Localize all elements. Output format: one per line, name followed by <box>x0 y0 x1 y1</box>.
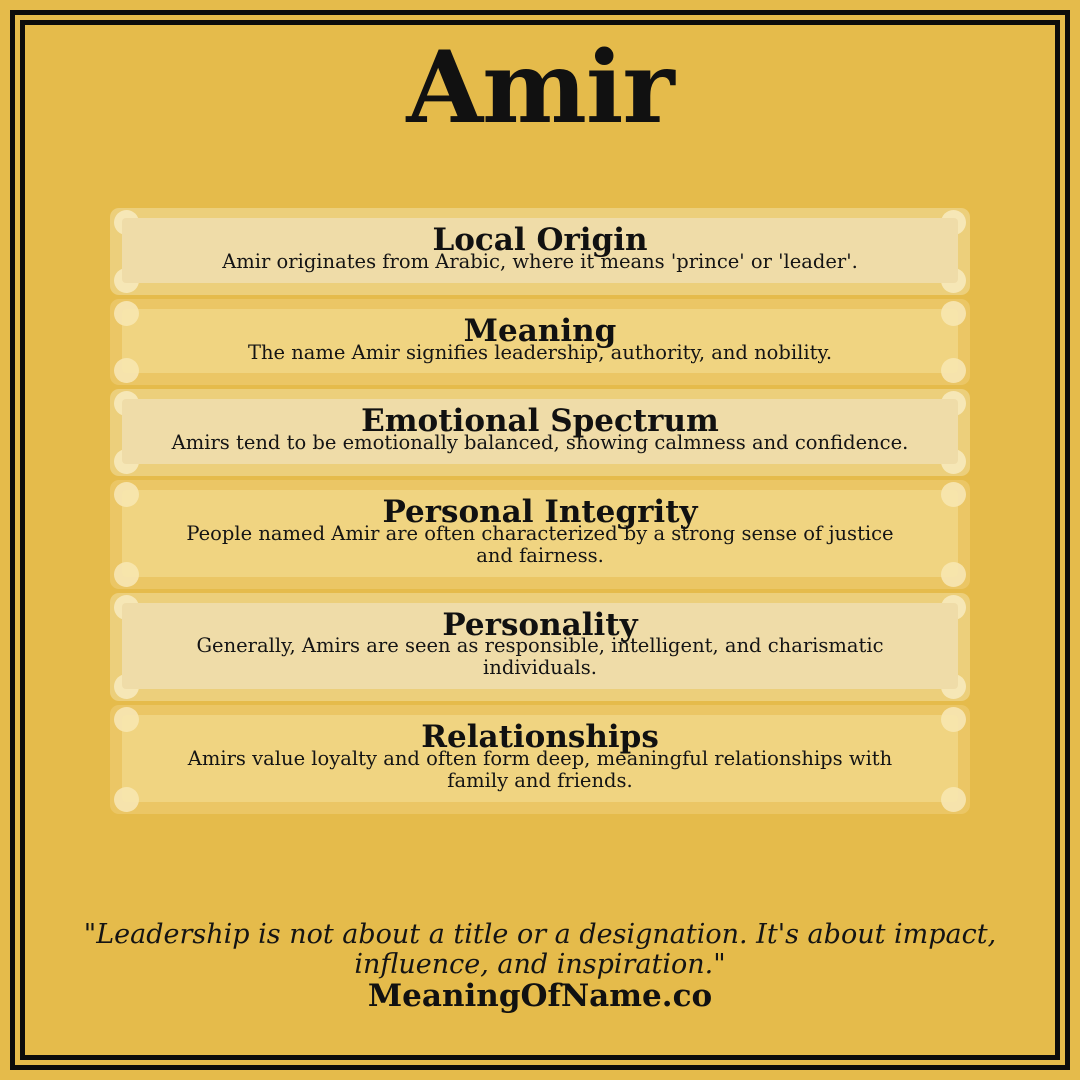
attribute-card: Personal Integrity People named Amir are… <box>110 480 970 589</box>
attribute-card-panel: Local Origin Amir originates from Arabic… <box>122 218 958 283</box>
attribute-card: Meaning The name Amir signifies leadersh… <box>110 299 970 386</box>
name-meaning-poster: Amir Local Origin Amir originates from A… <box>0 0 1080 1080</box>
poster-footer: "Leadership is not about a title or a de… <box>25 920 1055 1014</box>
attribute-card-panel: Personality Generally, Amirs are seen as… <box>122 603 958 690</box>
attribute-card-description: Generally, Amirs are seen as responsible… <box>166 635 914 679</box>
page-title: Amir <box>25 39 1055 138</box>
attribute-card-panel: Emotional Spectrum Amirs tend to be emot… <box>122 399 958 464</box>
attribute-card-description: Amir originates from Arabic, where it me… <box>166 251 914 273</box>
attribute-card-panel: Personal Integrity People named Amir are… <box>122 490 958 577</box>
attribute-card-panel: Meaning The name Amir signifies leadersh… <box>122 309 958 374</box>
attribute-card: Local Origin Amir originates from Arabic… <box>110 208 970 295</box>
attribute-card: Personality Generally, Amirs are seen as… <box>110 593 970 702</box>
attribute-card-list: Local Origin Amir originates from Arabic… <box>110 208 970 818</box>
footer-brand: MeaningOfName.co <box>25 978 1055 1014</box>
attribute-card: Relationships Amirs value loyalty and of… <box>110 705 970 814</box>
attribute-card-panel: Relationships Amirs value loyalty and of… <box>122 715 958 802</box>
attribute-card: Emotional Spectrum Amirs tend to be emot… <box>110 389 970 476</box>
attribute-card-description: Amirs value loyalty and often form deep,… <box>166 748 914 792</box>
poster-content: Amir Local Origin Amir originates from A… <box>25 25 1055 1055</box>
attribute-card-description: People named Amir are often characterize… <box>166 523 914 567</box>
footer-quote: "Leadership is not about a title or a de… <box>45 920 1035 980</box>
attribute-card-description: The name Amir signifies leadership, auth… <box>166 342 914 364</box>
attribute-card-description: Amirs tend to be emotionally balanced, s… <box>166 432 914 454</box>
